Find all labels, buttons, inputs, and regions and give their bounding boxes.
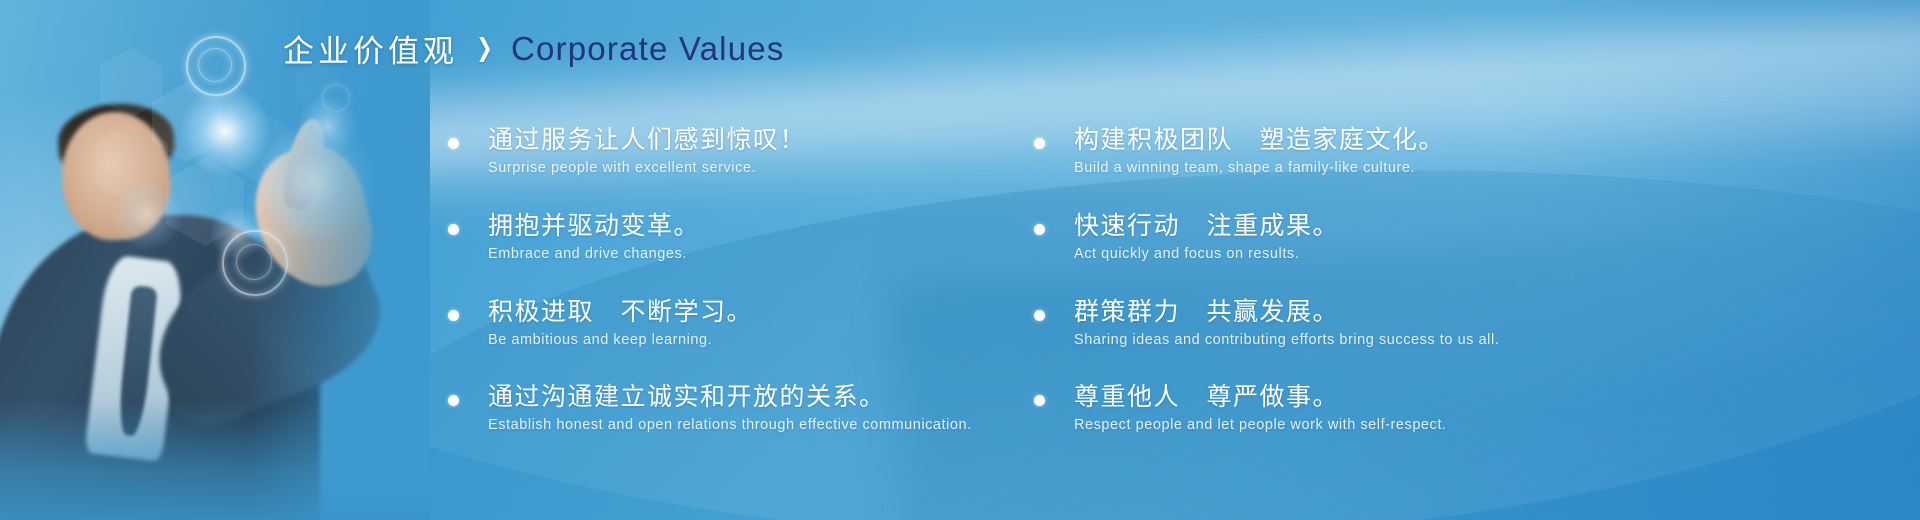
bullet-dot-icon	[448, 395, 459, 406]
glow-node-icon	[112, 180, 182, 250]
photo-bottom-fade	[0, 400, 430, 520]
value-text-cn: 构建积极团队 塑造家庭文化。	[1074, 124, 1916, 156]
value-text-en: Embrace and drive changes.	[488, 244, 1060, 266]
value-text-en: Be ambitious and keep learning.	[488, 330, 1060, 352]
chevron-right-icon: ❯	[476, 36, 493, 61]
value-text-cn: 尊重他人 尊严做事。	[1074, 381, 1916, 413]
value-text-cn: 通过沟通建立诚实和开放的关系。	[488, 381, 1060, 413]
value-item: 积极进取 不断学习。 Be ambitious and keep learnin…	[440, 296, 1060, 352]
value-item: 拥抱并驱动变革。 Embrace and drive changes.	[440, 210, 1060, 266]
bullet-dot-icon	[1034, 224, 1045, 235]
value-text-cn: 群策群力 共赢发展。	[1074, 296, 1916, 328]
value-item: 尊重他人 尊严做事。 Respect people and let people…	[1026, 381, 1916, 437]
bullet-dot-icon	[448, 138, 459, 149]
value-item: 快速行动 注重成果。 Act quickly and focus on resu…	[1026, 210, 1916, 266]
bullet-dot-icon	[448, 310, 459, 321]
value-text-cn: 积极进取 不断学习。	[488, 296, 1060, 328]
value-text-en: Surprise people with excellent service.	[488, 158, 1060, 180]
bullet-dot-icon	[1034, 395, 1045, 406]
value-text-cn: 快速行动 注重成果。	[1074, 210, 1916, 242]
corporate-values-banner: 企业价值观 ❯ Corporate Values 通过服务让人们感到惊叹！ Su…	[0, 0, 1920, 520]
page-title-en: Corporate Values	[511, 30, 785, 68]
value-text-en: Act quickly and focus on results.	[1074, 244, 1916, 266]
banner-header: 企业价值观 ❯ Corporate Values	[283, 26, 785, 71]
bullet-dot-icon	[1034, 310, 1045, 321]
value-text-en: Establish honest and open relations thro…	[488, 415, 1060, 437]
value-text-en: Build a winning team, shape a family-lik…	[1074, 158, 1916, 180]
value-text-en: Respect people and let people work with …	[1074, 415, 1916, 437]
value-text-cn: 通过服务让人们感到惊叹！	[488, 124, 1060, 156]
value-item: 构建积极团队 塑造家庭文化。 Build a winning team, sha…	[1026, 124, 1916, 180]
value-item: 通过服务让人们感到惊叹！ Surprise people with excell…	[440, 124, 1060, 180]
value-text-en: Sharing ideas and contributing efforts b…	[1074, 330, 1916, 352]
bullet-dot-icon	[1034, 138, 1045, 149]
values-column-right: 构建积极团队 塑造家庭文化。 Build a winning team, sha…	[1026, 124, 1916, 437]
page-title-cn: 企业价值观	[283, 26, 458, 71]
value-item: 通过沟通建立诚实和开放的关系。 Establish honest and ope…	[440, 381, 1060, 437]
concentric-circle-icon	[198, 48, 232, 82]
values-column-left: 通过服务让人们感到惊叹！ Surprise people with excell…	[440, 124, 1060, 437]
value-text-cn: 拥抱并驱动变革。	[488, 210, 1060, 242]
businessman-photo	[0, 0, 430, 520]
bullet-dot-icon	[448, 224, 459, 235]
value-item: 群策群力 共赢发展。 Sharing ideas and contributin…	[1026, 296, 1916, 352]
